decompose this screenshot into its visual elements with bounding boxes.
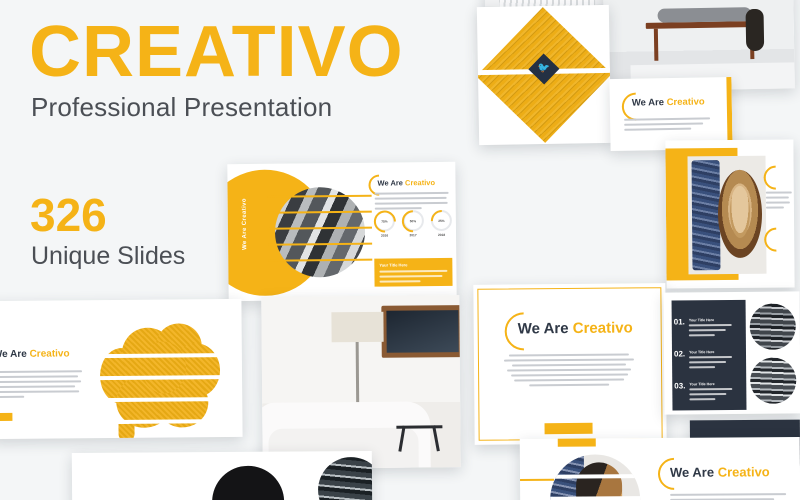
photo-detail-bench-leg xyxy=(654,29,659,61)
list-item-number: 02. xyxy=(674,350,685,371)
bedroom-photo xyxy=(261,295,460,469)
hero-text-block: CREATIVO Professional Presentation xyxy=(29,18,404,123)
stat-label: Unique Slides xyxy=(31,244,185,269)
list-item-number: 03. xyxy=(674,382,685,403)
body-text-placeholder xyxy=(504,353,634,389)
cta-button[interactable] xyxy=(545,423,593,434)
donut-year: 2018 xyxy=(431,233,452,237)
list-item-title: Your Title Here xyxy=(689,350,732,354)
slide-bedroom-photo[interactable] xyxy=(261,295,460,469)
body-text-placeholder xyxy=(0,370,82,401)
donut-year: 2017 xyxy=(403,233,424,237)
slide-heading: We Are Creativo xyxy=(632,96,705,108)
donut-year: 2016 xyxy=(374,233,395,237)
circular-photo xyxy=(750,303,796,349)
body-text-placeholder xyxy=(670,493,786,500)
page-subtitle: Professional Presentation xyxy=(31,92,404,123)
circular-photo xyxy=(318,457,372,500)
slide-heading: We Are Creativo xyxy=(377,178,435,188)
heading-creativo: Creativo xyxy=(405,178,435,187)
yellow-block xyxy=(558,437,596,447)
heading-creativo: Creativo xyxy=(573,319,633,337)
slide-heading: We Are Creativo xyxy=(518,319,633,337)
circular-photo xyxy=(750,357,796,403)
accent-bar xyxy=(459,295,461,453)
circular-photo xyxy=(212,466,285,500)
heading-creativo: Creativo xyxy=(667,96,705,108)
brain-idea-icon xyxy=(98,323,223,432)
slide-heading: We Are Creativo xyxy=(0,348,70,360)
photo-detail-hat-crown xyxy=(730,186,750,238)
heading-we-are: We Are xyxy=(670,465,714,480)
callout-box[interactable]: Your Title Here xyxy=(374,258,452,287)
body-text-placeholder xyxy=(624,117,710,133)
cta-button[interactable] xyxy=(0,413,12,421)
heading-we-are: We Are xyxy=(0,349,27,360)
slide-bottom-strip[interactable] xyxy=(72,451,372,500)
slide-intro-large[interactable]: We Are Creativo xyxy=(473,283,666,445)
list-item[interactable]: 03. Your Title Here xyxy=(674,382,732,404)
donut-chart: 75% xyxy=(374,210,395,231)
heading-creativo: Creativo xyxy=(30,348,70,359)
photo-detail-scarf xyxy=(692,160,721,270)
poster-canvas: 🐦 We Are Creativo xyxy=(0,0,800,500)
donut-stat-group: 75% 2016 50% 2017 25% 2018 xyxy=(374,210,452,238)
slide-circle-stats[interactable]: We Are Creativo We Are Creativo 75% xyxy=(227,162,456,301)
stat-block: 326 Unique Slides xyxy=(30,192,185,269)
donut-chart: 25% xyxy=(431,210,452,231)
photo-detail-lampshade xyxy=(331,312,383,342)
heading-we-are: We Are xyxy=(518,320,569,337)
stat-number: 326 xyxy=(30,192,185,238)
photo-detail-tv-screen xyxy=(386,310,458,353)
slide-brain-idea[interactable]: We Are Creativo xyxy=(0,299,243,439)
slide-hat-and-scarf-photo[interactable] xyxy=(665,139,794,288)
heading-creativo: Creativo xyxy=(718,464,770,479)
accent-line xyxy=(520,479,554,481)
list-item-title: Your Title Here xyxy=(689,382,732,386)
circular-photo xyxy=(275,187,366,278)
slide-portrait-intro[interactable]: We Are Creativo xyxy=(520,437,800,500)
vertical-brand-label: We Are Creativo xyxy=(242,198,249,250)
photo-detail-figure xyxy=(657,7,751,23)
list-item[interactable]: 01. Your Title Here xyxy=(674,318,732,340)
arch-photo xyxy=(550,454,641,500)
slide-numbered-list[interactable]: 01. Your Title Here 02. Your Title Here … xyxy=(663,291,800,414)
photo-detail-hair xyxy=(576,462,623,500)
hat-and-scarf-photo xyxy=(687,156,766,275)
photo-detail-stool xyxy=(396,421,442,451)
slide-diamond-social[interactable]: 🐦 xyxy=(477,5,611,145)
heading-we-are: We Are xyxy=(632,97,664,109)
page-title: CREATIVO xyxy=(29,18,404,86)
photo-detail-hair xyxy=(746,9,765,51)
heading-we-are: We Are xyxy=(377,178,403,187)
brain-stem xyxy=(118,424,134,439)
photo-detail-tv-frame xyxy=(381,305,460,358)
list-item-number: 01. xyxy=(674,318,685,339)
list-item[interactable]: 02. Your Title Here xyxy=(674,350,732,372)
body-text-placeholder xyxy=(766,191,792,211)
slide-heading: We Are Creativo xyxy=(670,464,770,480)
list-item-title: Your Title Here xyxy=(689,318,732,322)
donut-chart: 50% xyxy=(402,210,423,231)
callout-title: Your Title Here xyxy=(379,262,447,268)
